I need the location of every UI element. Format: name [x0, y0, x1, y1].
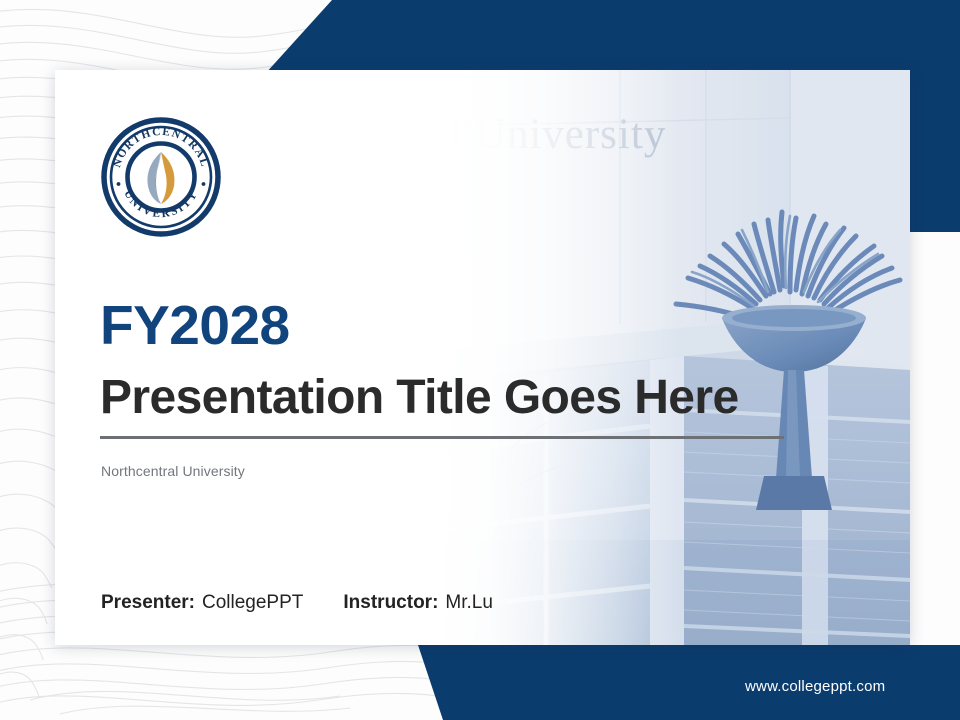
instructor-value: Mr.Lu — [445, 592, 493, 614]
credits-row: Presenter: CollegePPT Instructor: Mr.Lu — [101, 592, 493, 614]
instructor-label: Instructor: — [343, 592, 438, 614]
website-url[interactable]: www.collegeppt.com — [745, 678, 885, 695]
instructor-group: Instructor: Mr.Lu — [343, 592, 493, 614]
presenter-group: Presenter: CollegePPT — [101, 592, 303, 614]
presenter-label: Presenter: — [101, 592, 195, 614]
organization-name: Northcentral University — [101, 463, 245, 479]
title-divider — [100, 436, 784, 439]
fiscal-year-label: FY2028 — [100, 298, 290, 353]
campus-building-photo: al University — [350, 70, 910, 645]
page-title: Presentation Title Goes Here — [100, 373, 739, 423]
presentation-slide: al University — [0, 0, 960, 720]
slide-card: al University — [55, 70, 910, 645]
northcentral-university-seal-icon: NORTHCENTRAL UNIVERSITY — [100, 116, 222, 238]
presenter-value: CollegePPT — [202, 592, 303, 614]
